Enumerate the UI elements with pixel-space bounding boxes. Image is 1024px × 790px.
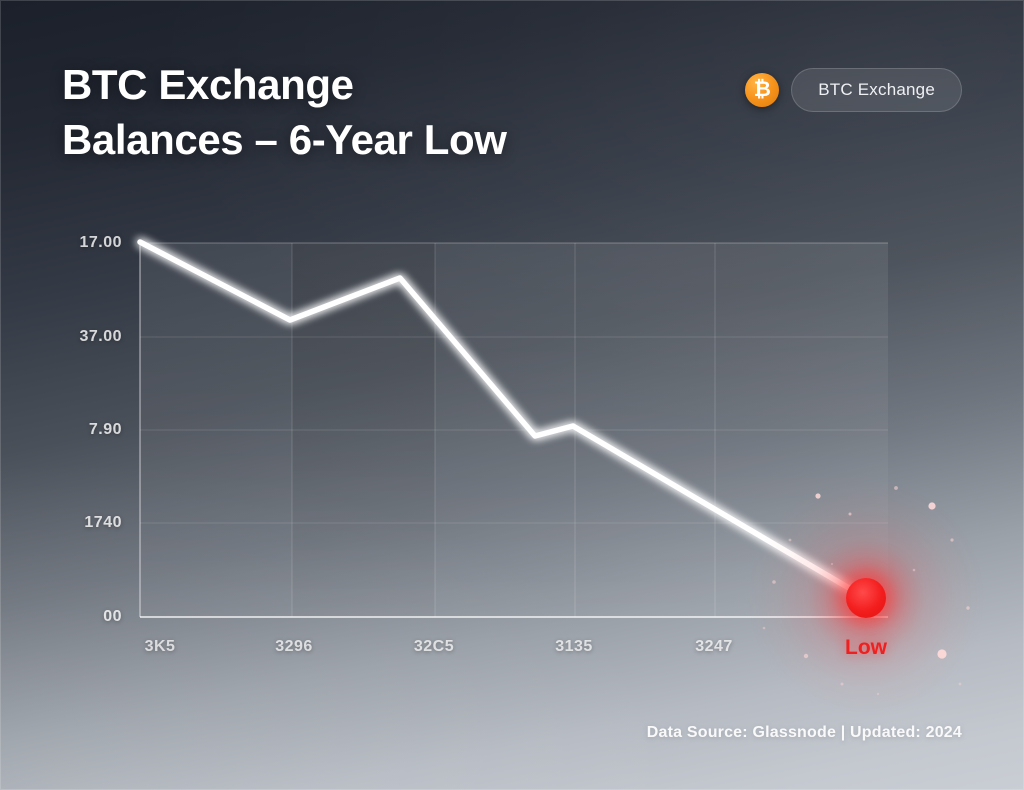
footer-source-text: Data Source: Glassnode | Updated: 2024 [647,724,962,742]
line-chart [0,0,1024,790]
y-tick-label: 7.90 [66,421,122,439]
x-tick-label: 3135 [555,638,593,656]
poster-canvas: BTC Exchange Balances – 6-Year Low ₿ BTC… [0,0,1024,790]
y-tick-label: 1740 [66,514,122,532]
y-tick-label: 00 [66,608,122,626]
x-tick-label: 3296 [275,638,313,656]
y-tick-label: 17.00 [66,234,122,252]
low-marker-label: Low [845,636,887,660]
x-tick-label: 3K5 [145,638,176,656]
y-tick-label: 37.00 [66,328,122,346]
low-marker-dot[interactable] [846,578,886,618]
x-tick-label: 3247 [695,638,733,656]
x-tick-label: 32C5 [414,638,454,656]
